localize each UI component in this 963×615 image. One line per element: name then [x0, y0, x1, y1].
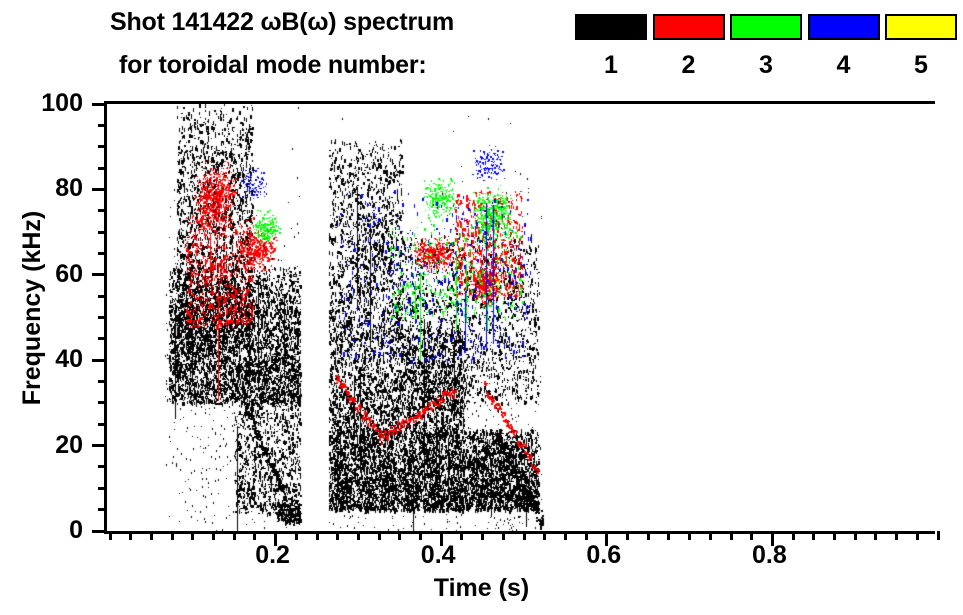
plot-axes-frame — [104, 101, 935, 534]
x-tick-minor — [750, 531, 753, 540]
x-tick-minor — [709, 531, 712, 540]
legend-entry-n3[interactable]: 3 — [730, 12, 806, 90]
legend-entry-n4[interactable]: 4 — [808, 12, 884, 90]
x-tick-label-0.6: 0.6 — [554, 541, 654, 569]
y-tick-minor — [98, 167, 107, 170]
x-tick-minor — [481, 531, 484, 540]
x-tick-minor — [916, 531, 919, 540]
legend-swatch-n2 — [653, 14, 725, 40]
y-tick-minor — [98, 401, 107, 404]
x-tick-minor — [688, 531, 691, 540]
x-tick-minor — [502, 531, 505, 540]
x-tick-minor — [667, 531, 670, 540]
x-tick-minor — [730, 531, 733, 540]
x-axis-title: Time (s) — [0, 574, 963, 602]
x-tick-minor — [398, 531, 401, 540]
legend-swatch-n5 — [885, 14, 957, 40]
x-tick-minor — [895, 531, 898, 540]
y-tick-100 — [92, 103, 107, 106]
mode-number-legend: 12345 — [575, 12, 963, 90]
x-tick-minor — [874, 531, 877, 540]
y-tick-minor — [98, 337, 107, 340]
legend-entry-n5[interactable]: 5 — [885, 12, 961, 90]
x-tick-minor — [109, 531, 112, 540]
y-tick-minor — [98, 252, 107, 255]
y-tick-minor — [98, 465, 107, 468]
x-tick-minor — [171, 531, 174, 540]
x-tick-label-0.4: 0.4 — [388, 541, 488, 569]
x-tick-minor — [212, 531, 215, 540]
legend-label-n3: 3 — [730, 50, 802, 80]
x-tick-minor — [564, 531, 567, 540]
y-tick-minor — [98, 145, 107, 148]
x-tick-minor — [419, 531, 422, 540]
x-tick-minor — [129, 531, 132, 540]
x-tick-label-0.8: 0.8 — [719, 541, 819, 569]
legend-entry-n2[interactable]: 2 — [653, 12, 729, 90]
y-tick-minor — [98, 316, 107, 319]
x-tick-minor — [523, 531, 526, 540]
legend-label-n5: 5 — [885, 50, 957, 80]
x-tick-minor — [378, 531, 381, 540]
y-tick-label-40: 40 — [13, 347, 83, 372]
y-tick-minor — [98, 380, 107, 383]
y-tick-minor — [98, 231, 107, 234]
figure-title-line-1: Shot 141422 ωB(ω) spectrum — [110, 7, 454, 37]
x-tick-minor — [937, 531, 940, 540]
y-tick-minor — [98, 124, 107, 127]
y-tick-label-80: 80 — [13, 176, 83, 201]
x-tick-minor — [336, 531, 339, 540]
y-tick-0 — [92, 530, 107, 533]
x-tick-minor — [647, 531, 650, 540]
legend-label-n4: 4 — [808, 50, 880, 80]
y-tick-minor — [98, 209, 107, 212]
legend-entry-n1[interactable]: 1 — [575, 12, 651, 90]
x-tick-minor — [792, 531, 795, 540]
y-tick-60 — [92, 273, 107, 276]
x-tick-minor — [316, 531, 319, 540]
x-tick-minor — [543, 531, 546, 540]
x-tick-minor — [295, 531, 298, 540]
x-tick-minor — [833, 531, 836, 540]
y-tick-minor — [98, 423, 107, 426]
legend-swatch-n3 — [730, 14, 802, 40]
x-tick-label-0.2: 0.2 — [223, 541, 323, 569]
x-tick-minor — [812, 531, 815, 540]
y-tick-20 — [92, 444, 107, 447]
legend-label-n2: 2 — [653, 50, 725, 80]
x-tick-minor — [233, 531, 236, 540]
y-tick-label-60: 60 — [13, 262, 83, 287]
y-tick-80 — [92, 188, 107, 191]
y-tick-minor — [98, 508, 107, 511]
y-tick-label-100: 100 — [13, 91, 83, 116]
y-tick-minor — [98, 295, 107, 298]
y-tick-40 — [92, 359, 107, 362]
x-tick-minor — [585, 531, 588, 540]
x-tick-minor — [253, 531, 256, 540]
legend-label-n1: 1 — [575, 50, 647, 80]
figure-title-line-2: for toroidal mode number: — [119, 50, 427, 80]
y-axis-title: Frequency (kHz) — [18, 211, 46, 405]
spectrogram-figure: Shot 141422 ωB(ω) spectrum for toroidal … — [0, 0, 963, 615]
legend-swatch-n1 — [575, 14, 647, 40]
y-tick-label-0: 0 — [13, 518, 83, 543]
x-tick-minor — [460, 531, 463, 540]
y-tick-minor — [98, 487, 107, 490]
x-tick-minor — [854, 531, 857, 540]
y-tick-label-20: 20 — [13, 433, 83, 458]
x-tick-minor — [150, 531, 153, 540]
x-tick-minor — [191, 531, 194, 540]
x-tick-minor — [626, 531, 629, 540]
x-tick-minor — [357, 531, 360, 540]
legend-swatch-n4 — [808, 14, 880, 40]
